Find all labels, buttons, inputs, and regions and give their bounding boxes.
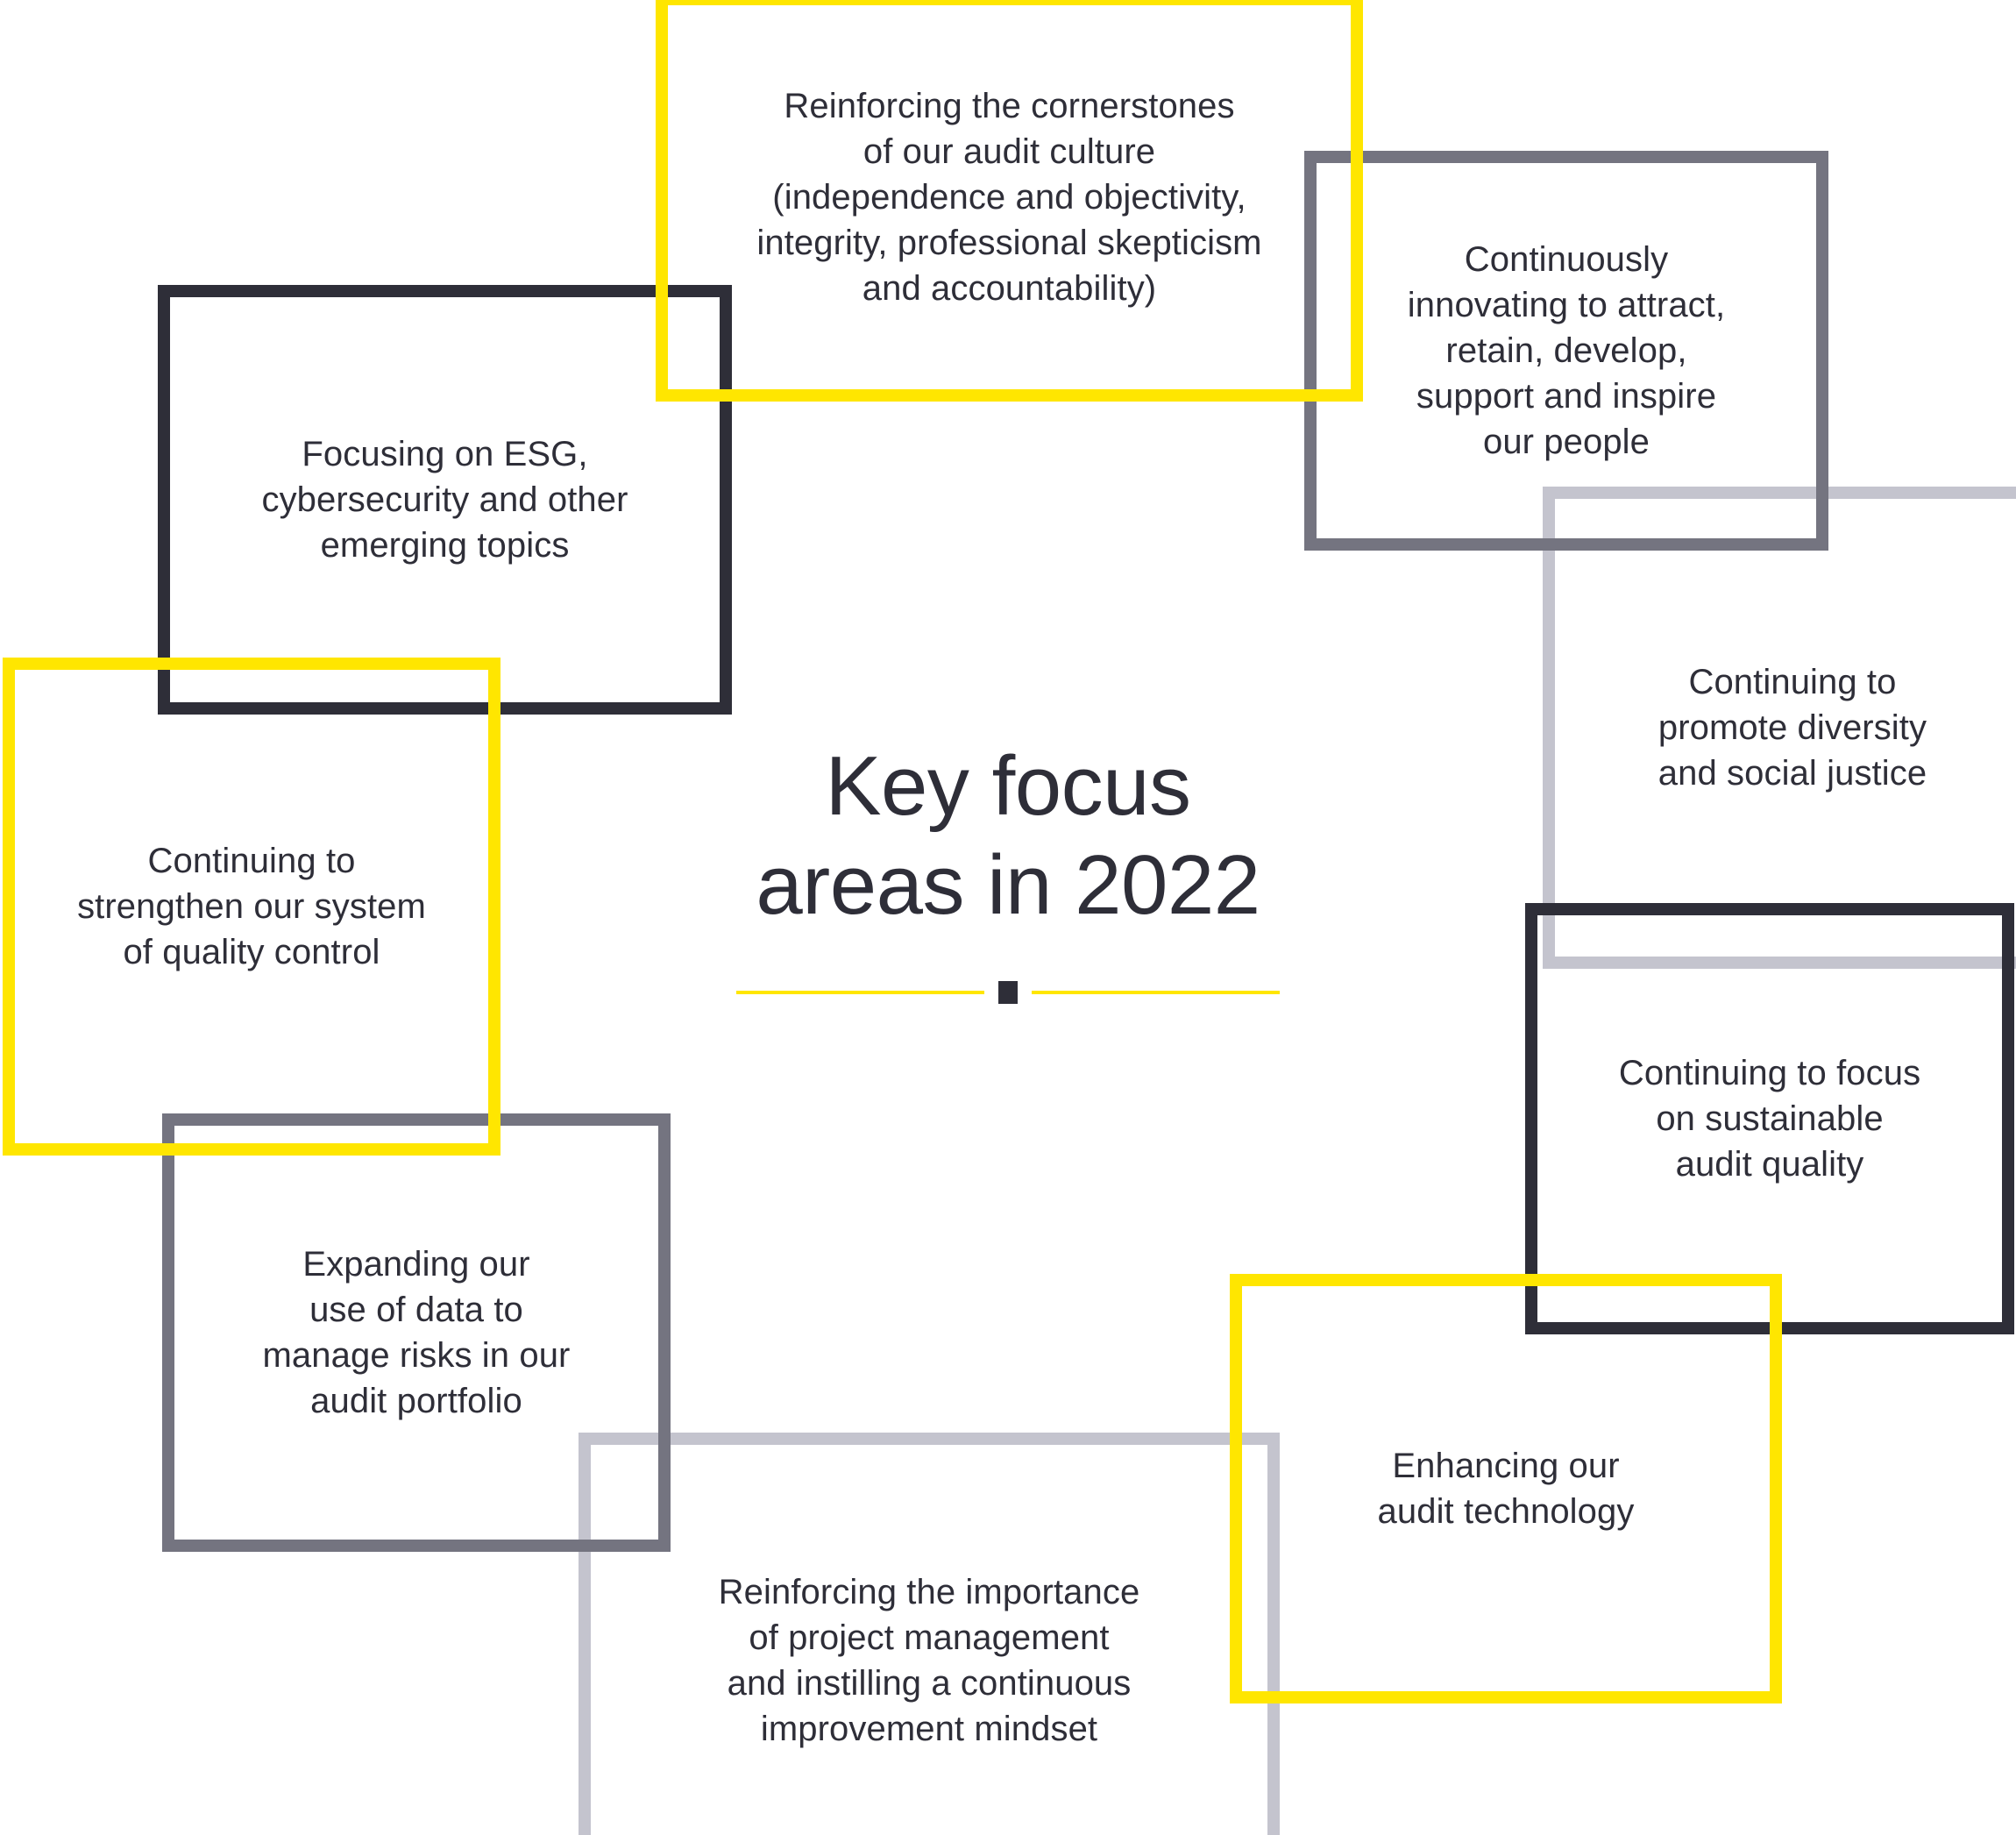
focus-box-label: Enhancing our audit technology: [1362, 1443, 1650, 1534]
page-title: Key focus areas in 2022: [756, 736, 1260, 935]
focus-box-label: Focusing on ESG, cybersecurity and other…: [245, 431, 643, 568]
focus-box-label: Continuing to focus on sustainable audit…: [1603, 1050, 1936, 1187]
focus-box-project-management[interactable]: Reinforcing the importance of project ma…: [579, 1433, 1280, 1835]
infographic-canvas: Continuing to promote diversity and soci…: [0, 0, 2016, 1835]
focus-box-esg-cybersecurity[interactable]: Focusing on ESG, cybersecurity and other…: [158, 285, 732, 715]
divider-square-icon: [998, 981, 1018, 1004]
title-divider: [736, 981, 1280, 1004]
focus-box-label: Reinforcing the cornerstones of our audi…: [741, 83, 1277, 311]
focus-box-quality-control[interactable]: Continuing to strengthen our system of q…: [3, 658, 500, 1156]
focus-box-label: Reinforcing the importance of project ma…: [703, 1569, 1156, 1752]
focus-box-label: Continuing to strengthen our system of q…: [61, 838, 442, 975]
focus-box-label: Continuously innovating to attract, reta…: [1392, 237, 1741, 465]
center-title-block: Key focus areas in 2022: [614, 736, 1402, 1004]
focus-box-innovating-people[interactable]: Continuously innovating to attract, reta…: [1304, 151, 1828, 551]
focus-box-audit-culture[interactable]: Reinforcing the cornerstones of our audi…: [656, 0, 1363, 402]
focus-box-sustainable-audit-quality[interactable]: Continuing to focus on sustainable audit…: [1525, 903, 2014, 1334]
divider-left-rule-icon: [736, 991, 984, 994]
focus-box-label: Expanding our use of data to manage risk…: [247, 1241, 586, 1424]
focus-box-diversity-social-justice[interactable]: Continuing to promote diversity and soci…: [1543, 487, 2016, 969]
focus-box-data-risk-portfolio[interactable]: Expanding our use of data to manage risk…: [162, 1113, 671, 1552]
focus-box-label: Continuing to promote diversity and soci…: [1643, 659, 1942, 796]
divider-right-rule-icon: [1032, 991, 1280, 994]
focus-box-audit-technology[interactable]: Enhancing our audit technology: [1230, 1274, 1782, 1703]
